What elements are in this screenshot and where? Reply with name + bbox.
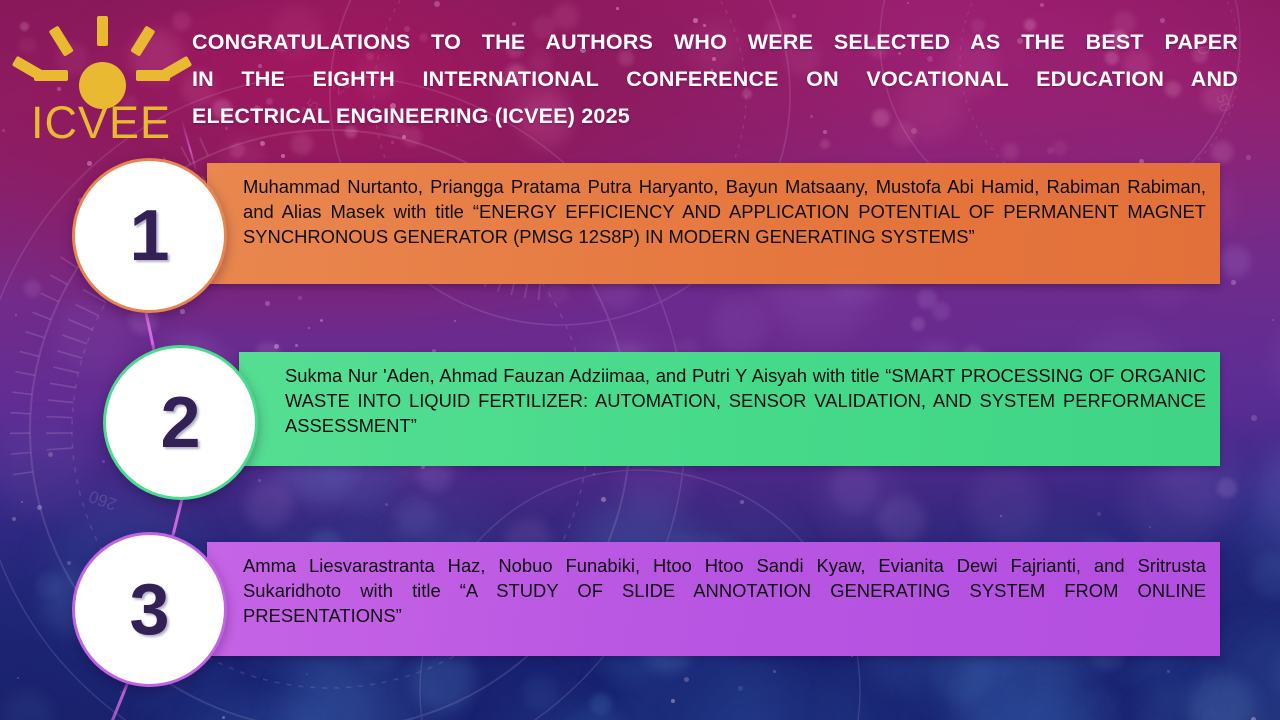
award-rank-label-1: 1 [129, 200, 169, 272]
page-title-line-1: CONGRATULATIONS TO THE AUTHORS WHO WERE … [192, 24, 1238, 61]
award-text-1: Muhammad Nurtanto, Priangga Pratama Putr… [243, 176, 1206, 247]
page-title-line-3: ELECTRICAL ENGINEERING (ICVEE) 2025 [192, 98, 1238, 135]
award-text-2: Sukma Nur 'Aden, Ahmad Fauzan Adziimaa, … [285, 365, 1206, 436]
award-rank-badge-1: 1 [72, 158, 227, 313]
icvee-logo: ICVEE [26, 12, 176, 142]
award-card-1: Muhammad Nurtanto, Priangga Pratama Putr… [207, 163, 1220, 284]
award-rank-badge-2: 2 [103, 345, 258, 500]
logo-wordmark: ICVEE [26, 100, 176, 145]
slide-canvas: 260 250 240 230 40 50 15 20 ICVEE [0, 0, 1280, 720]
page-title: CONGRATULATIONS TO THE AUTHORS WHO WERE … [192, 24, 1238, 135]
award-rank-label-2: 2 [160, 387, 200, 459]
award-rank-badge-3: 3 [72, 532, 227, 687]
page-title-line-2: IN THE EIGHTH INTERNATIONAL CONFERENCE O… [192, 61, 1238, 98]
award-rank-label-3: 3 [129, 574, 169, 646]
award-card-3: Amma Liesvarastranta Haz, Nobuo Funabiki… [207, 542, 1220, 656]
award-card-2: Sukma Nur 'Aden, Ahmad Fauzan Adziimaa, … [239, 352, 1220, 466]
award-text-3: Amma Liesvarastranta Haz, Nobuo Funabiki… [243, 555, 1206, 626]
